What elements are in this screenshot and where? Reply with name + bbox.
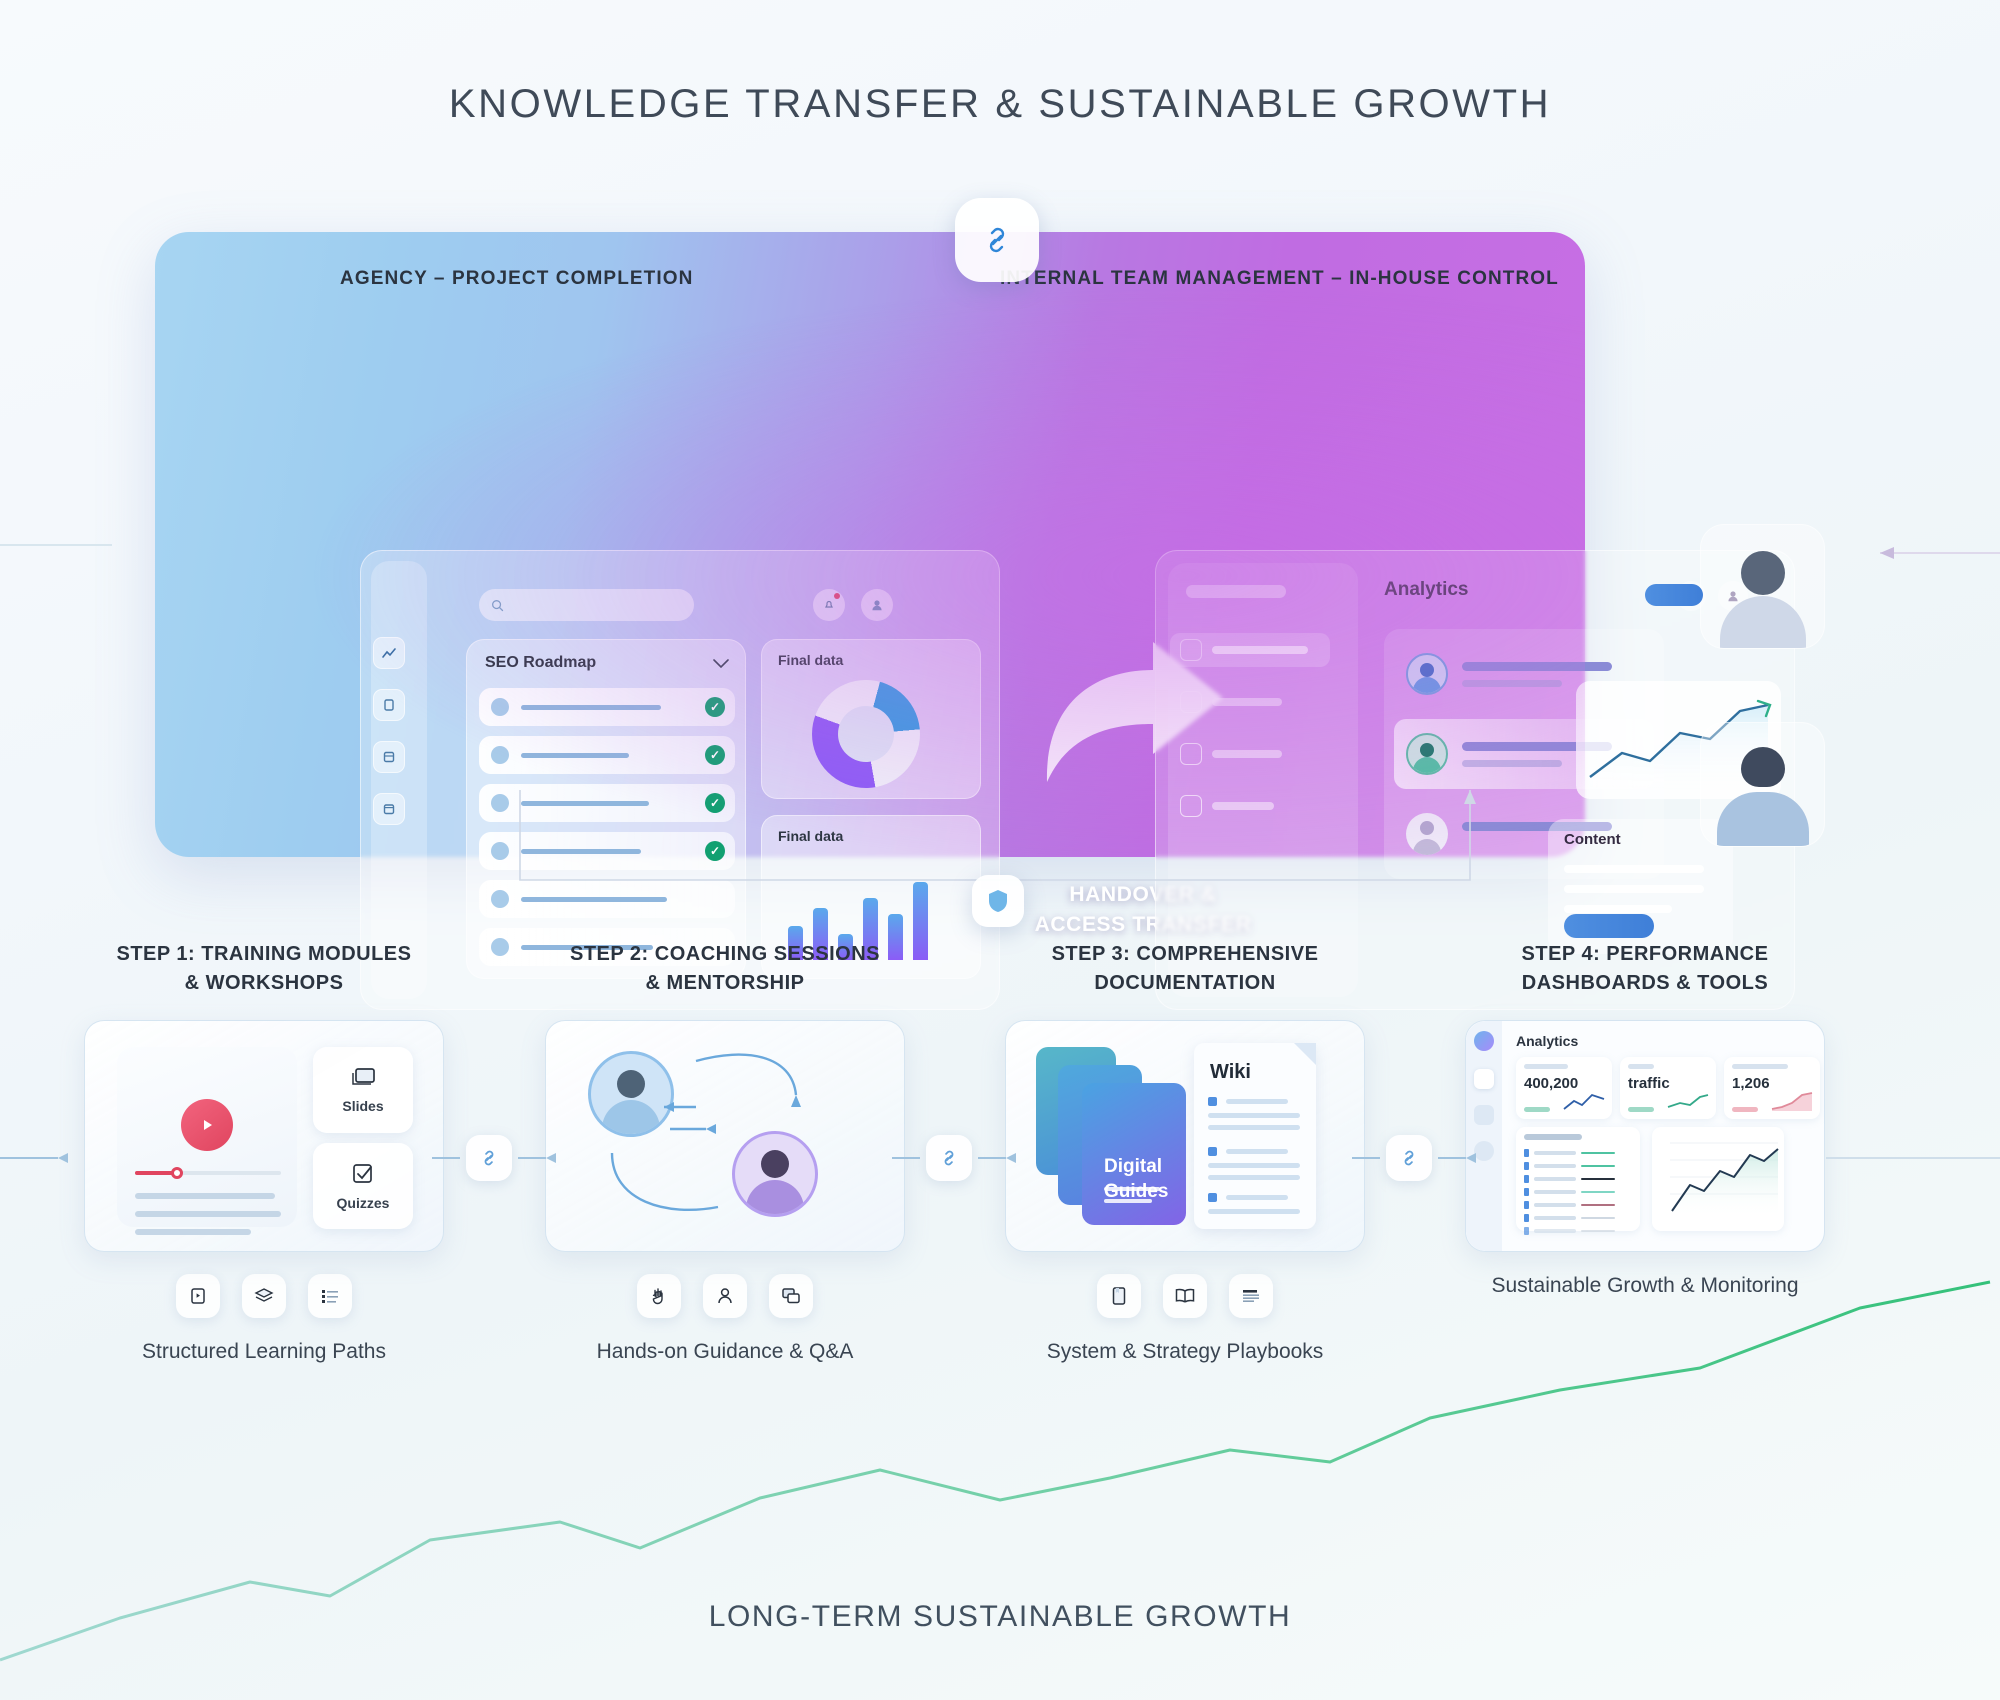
step-2-icons bbox=[545, 1274, 905, 1318]
trend-up-icon[interactable] bbox=[373, 637, 405, 669]
donut-card-title: Final data bbox=[778, 652, 843, 668]
table-row[interactable]: ✓ bbox=[479, 736, 735, 774]
kpi-card[interactable]: 1,206 bbox=[1724, 1057, 1820, 1119]
analytics-title: Analytics bbox=[1384, 579, 1468, 601]
person-icon[interactable] bbox=[703, 1274, 747, 1318]
row-bar bbox=[521, 705, 661, 710]
step-1-icons bbox=[84, 1274, 444, 1318]
chat-icon[interactable] bbox=[769, 1274, 813, 1318]
content-card-title: Content bbox=[1564, 831, 1621, 848]
list-item bbox=[1524, 1149, 1615, 1157]
slides-card[interactable]: Slides bbox=[313, 1047, 413, 1133]
kpi-value: 1,206 bbox=[1732, 1075, 1770, 1092]
table-row[interactable]: ✓ bbox=[479, 784, 735, 822]
seo-roadmap-title: SEO Roadmap bbox=[485, 654, 596, 672]
step-1-caption: Structured Learning Paths bbox=[84, 1340, 444, 1364]
kpi-value: 400,200 bbox=[1524, 1075, 1578, 1092]
guide-stack-front[interactable]: Digital Guides bbox=[1082, 1083, 1186, 1225]
quizzes-card[interactable]: Quizzes bbox=[313, 1143, 413, 1229]
sidebar-item-label bbox=[1212, 750, 1282, 758]
list-item bbox=[1524, 1188, 1615, 1196]
row-bar bbox=[521, 897, 667, 902]
list-item bbox=[1524, 1227, 1615, 1235]
book-icon[interactable] bbox=[1097, 1274, 1141, 1318]
metrics-list-panel[interactable] bbox=[1516, 1127, 1640, 1231]
table-row[interactable] bbox=[479, 880, 735, 918]
list-item bbox=[1524, 1214, 1615, 1222]
slides-icon bbox=[348, 1066, 378, 1090]
status-badge: ✓ bbox=[705, 697, 725, 717]
hand-icon[interactable] bbox=[637, 1274, 681, 1318]
list-item bbox=[1524, 1162, 1615, 1170]
sidebar-item-clock[interactable] bbox=[1170, 737, 1330, 771]
sidebar-item-label bbox=[1212, 698, 1282, 706]
search-icon bbox=[491, 599, 504, 612]
handover-hero-panel: AGENCY – PROJECT COMPLETION INTERNAL TEA… bbox=[155, 232, 1585, 857]
bottom-caption: LONG-TERM SUSTAINABLE GROWTH bbox=[0, 1600, 2000, 1634]
person-icon bbox=[1180, 691, 1202, 713]
dashboard-title: Analytics bbox=[1516, 1033, 1578, 1049]
wiki-document[interactable]: Wiki bbox=[1194, 1043, 1316, 1229]
message-bubble bbox=[1645, 584, 1703, 606]
list-item bbox=[1524, 1201, 1615, 1209]
list-item bbox=[1524, 1175, 1615, 1183]
quizzes-label: Quizzes bbox=[337, 1195, 390, 1211]
slides-label: Slides bbox=[342, 1098, 383, 1114]
link-icon bbox=[939, 1148, 959, 1168]
status-badge: ✓ bbox=[705, 745, 725, 765]
seo-roadmap-card: SEO Roadmap ✓ ✓ ✓ ✓ bbox=[466, 639, 746, 979]
row-dot bbox=[491, 842, 509, 860]
row-dot bbox=[491, 794, 509, 812]
content-line bbox=[1564, 885, 1704, 893]
text-line bbox=[135, 1193, 275, 1199]
layers-icon[interactable] bbox=[242, 1274, 286, 1318]
donut-chart bbox=[812, 680, 920, 788]
avatar bbox=[1406, 813, 1448, 855]
step-3: STEP 3: COMPREHENSIVEDOCUMENTATION Digit… bbox=[1005, 940, 1365, 1364]
row-bar bbox=[521, 849, 641, 854]
step-3-caption: System & Strategy Playbooks bbox=[1005, 1340, 1365, 1364]
row-dot bbox=[491, 698, 509, 716]
step-1: STEP 1: TRAINING MODULES& WORKSHOPS Slid… bbox=[84, 940, 444, 1364]
sidebar-logo bbox=[1186, 585, 1286, 598]
step-2-title: STEP 2: COACHING SESSIONS& MENTORSHIP bbox=[545, 940, 905, 998]
link-icon bbox=[980, 223, 1014, 257]
step-4-title: STEP 4: PERFORMANCEDASHBOARDS & TOOLS bbox=[1465, 940, 1825, 998]
app-logo bbox=[1474, 1031, 1494, 1051]
final-data-donut-card: Final data bbox=[761, 639, 981, 799]
table-row[interactable]: ✓ bbox=[479, 688, 735, 726]
settings-icon bbox=[1180, 795, 1202, 817]
step-connector-1[interactable] bbox=[466, 1135, 512, 1181]
clock-icon bbox=[1180, 743, 1202, 765]
kpi-card[interactable]: traffic bbox=[1620, 1057, 1716, 1119]
status-badge: ✓ bbox=[705, 793, 725, 813]
agency-sidebar-rail bbox=[371, 561, 427, 999]
content-card: Content bbox=[1548, 819, 1733, 954]
digital-guides-label: Digital Guides bbox=[1104, 1155, 1168, 1204]
grid-icon bbox=[1474, 1105, 1494, 1125]
trend-up-icon bbox=[1474, 1069, 1494, 1089]
step-3-title: STEP 3: COMPREHENSIVEDOCUMENTATION bbox=[1005, 940, 1365, 998]
bell-icon[interactable] bbox=[813, 589, 845, 621]
step-3-icons bbox=[1005, 1274, 1365, 1318]
list-icon[interactable] bbox=[308, 1274, 352, 1318]
avatar bbox=[1406, 653, 1448, 695]
step-4-card[interactable]: Analytics 400,200 traffic 1,206 bbox=[1465, 1020, 1825, 1252]
step-4-caption: Sustainable Growth & Monitoring bbox=[1465, 1274, 1825, 1298]
calendar-icon[interactable] bbox=[373, 793, 405, 825]
growth-area-chart bbox=[1652, 1127, 1784, 1231]
link-chip-top[interactable] bbox=[955, 198, 1039, 282]
step-connector-3[interactable] bbox=[1386, 1135, 1432, 1181]
content-line bbox=[1564, 905, 1672, 913]
step-2: STEP 2: COACHING SESSIONS& MENTORSHIP bbox=[545, 940, 905, 1364]
video-progress-slider[interactable] bbox=[135, 1171, 281, 1175]
agency-panel-label: AGENCY – PROJECT COMPLETION bbox=[340, 268, 693, 290]
internal-sidebar bbox=[1168, 563, 1358, 997]
search-input[interactable] bbox=[479, 589, 694, 621]
avatar[interactable] bbox=[861, 589, 893, 621]
status-badge: ✓ bbox=[705, 841, 725, 861]
circle-icon bbox=[1474, 1141, 1494, 1161]
row-bar bbox=[521, 753, 629, 758]
checkbox-icon bbox=[349, 1161, 377, 1187]
shield-icon bbox=[986, 888, 1010, 914]
link-icon bbox=[479, 1148, 499, 1168]
text-line bbox=[135, 1211, 281, 1217]
sidebar-item-people[interactable] bbox=[1170, 633, 1330, 667]
video-icon[interactable] bbox=[176, 1274, 220, 1318]
step-2-caption: Hands-on Guidance & Q&A bbox=[545, 1340, 905, 1364]
play-icon[interactable] bbox=[181, 1099, 233, 1151]
wiki-label: Wiki bbox=[1210, 1061, 1251, 1084]
sidebar-item-settings[interactable] bbox=[1170, 789, 1330, 823]
document-icon[interactable] bbox=[1229, 1274, 1273, 1318]
panel-title-placeholder bbox=[1524, 1134, 1582, 1140]
file-icon[interactable] bbox=[373, 689, 405, 721]
people-icon bbox=[1180, 639, 1202, 661]
step-connector-2[interactable] bbox=[926, 1135, 972, 1181]
content-line bbox=[1564, 865, 1704, 873]
step-1-title: STEP 1: TRAINING MODULES& WORKSHOPS bbox=[84, 940, 444, 998]
table-row[interactable]: ✓ bbox=[479, 832, 735, 870]
step-4: STEP 4: PERFORMANCEDASHBOARDS & TOOLS An… bbox=[1465, 940, 1825, 1298]
step-3-card[interactable]: Digital Guides Wiki bbox=[1005, 1020, 1365, 1252]
step-1-card[interactable]: Slides Quizzes bbox=[84, 1020, 444, 1252]
grid-icon[interactable] bbox=[373, 741, 405, 773]
link-icon bbox=[1399, 1148, 1419, 1168]
chevron-down-icon[interactable] bbox=[713, 656, 729, 674]
kpi-card[interactable]: 400,200 bbox=[1516, 1057, 1612, 1119]
analytics-dashboard: Analytics 400,200 traffic 1,206 bbox=[1466, 1021, 1824, 1251]
kpi-value: traffic bbox=[1628, 1075, 1670, 1092]
team-member-avatar-1 bbox=[1700, 524, 1825, 649]
sidebar-item-label bbox=[1212, 802, 1274, 810]
row-bar bbox=[521, 801, 649, 806]
exchange-arrows-icon bbox=[546, 1021, 905, 1252]
bar-card-title: Final data bbox=[778, 828, 843, 844]
internal-panel-label: INTERNAL TEAM MANAGEMENT – IN-HOUSE CONT… bbox=[1000, 268, 1559, 290]
avatar bbox=[1406, 733, 1448, 775]
row-dot bbox=[491, 938, 509, 956]
video-player[interactable] bbox=[117, 1047, 297, 1227]
team-member-avatar-2 bbox=[1700, 722, 1825, 847]
sidebar-item-person[interactable] bbox=[1170, 685, 1330, 719]
row-dot bbox=[491, 746, 509, 764]
content-submit-button[interactable] bbox=[1564, 914, 1654, 938]
row-dot bbox=[491, 890, 509, 908]
sidebar-item-label bbox=[1212, 646, 1308, 654]
page-title: KNOWLEDGE TRANSFER & SUSTAINABLE GROWTH bbox=[0, 82, 2000, 127]
security-chip-bottom[interactable] bbox=[972, 875, 1024, 927]
text-line bbox=[135, 1229, 251, 1235]
open-book-icon[interactable] bbox=[1163, 1274, 1207, 1318]
step-2-card[interactable] bbox=[545, 1020, 905, 1252]
dashboard-sidebar bbox=[1466, 1021, 1502, 1251]
